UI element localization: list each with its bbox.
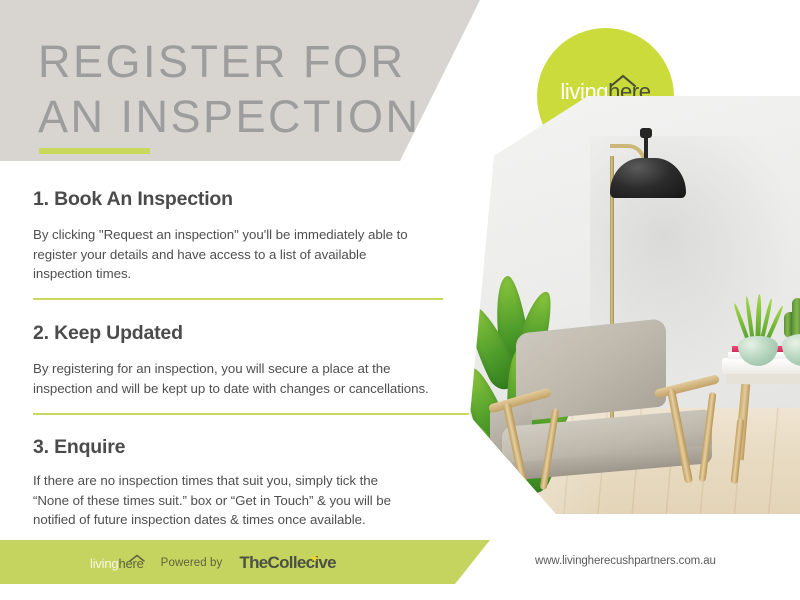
section-book-an-inspection: 1. Book An Inspection By clicking "Reque… [33,188,443,300]
chair-back-cushion [516,318,666,422]
section-body: By clicking "Request an inspection" you'… [33,225,443,284]
footer-logo-living: living [90,556,118,571]
chair-leg-rear [731,418,745,484]
powered-by-label: Powered by [161,557,223,569]
footer-logo[interactable]: livinghere [90,556,144,571]
section-divider [33,413,469,415]
section-heading: 2. Keep Updated [33,322,469,345]
website-url[interactable]: www.livingherecushpartners.com.au [535,555,716,567]
armchair [488,326,756,506]
poster-canvas: Register For An Inspection livinghere cu… [0,0,800,600]
footer-branding: livinghere Powered by TheCollecive [90,552,336,574]
section-keep-updated: 2. Keep Updated By registering for an in… [33,322,469,415]
partner-name: TheCollec [239,553,314,572]
partner-logo[interactable]: TheCollecive [239,553,336,573]
section-body: If there are no inspection times that su… [33,471,445,530]
section-divider [33,298,443,300]
section-heading: 1. Book An Inspection [33,188,443,211]
section-heading: 3. Enquire [33,436,445,459]
title-underline-accent [39,148,150,154]
lamp-stem-top [640,128,652,138]
partner-name-tail: ive [314,553,336,572]
house-roof-icon [129,550,145,565]
section-enquire: 3. Enquire If there are no inspection ti… [33,436,445,544]
section-body: By registering for an inspection, you wi… [33,359,469,398]
interior-photo [470,96,800,514]
page-title: Register For An Inspection [38,34,421,144]
